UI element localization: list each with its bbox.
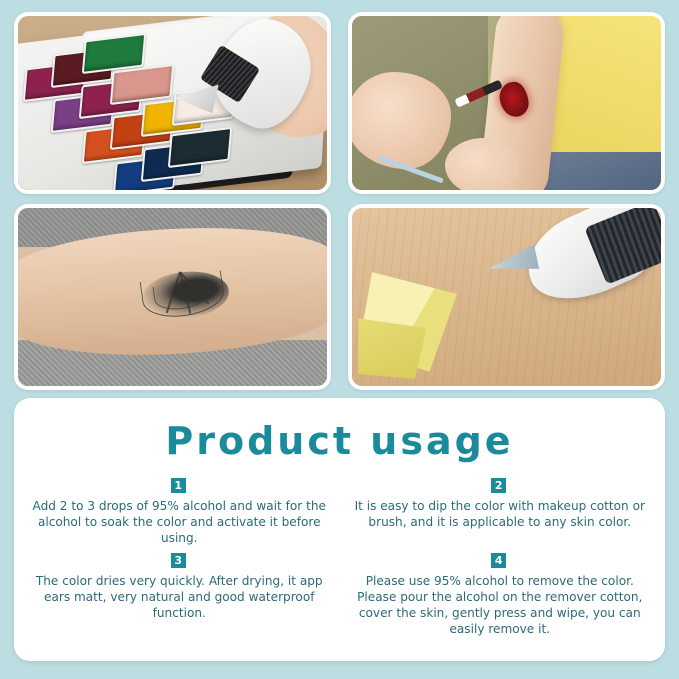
yellow-sponge-shadow-face <box>358 318 426 379</box>
step-text: Please use 95% alcohol to remove the col… <box>351 574 650 638</box>
step-number: 2 <box>491 478 506 493</box>
step-number-badge: 4 <box>491 553 508 570</box>
usage-step: 1 Add 2 to 3 drops of 95% alcohol and wa… <box>30 478 329 547</box>
photo-card-palette <box>14 12 331 194</box>
step-number: 1 <box>171 478 186 493</box>
usage-step: 2 It is easy to dip the color with makeu… <box>351 478 650 547</box>
step-number-badge: 3 <box>171 553 188 570</box>
usage-steps: 1 Add 2 to 3 drops of 95% alcohol and wa… <box>30 478 649 638</box>
usage-step: 3 The color dries very quickly. After dr… <box>30 553 329 638</box>
photo-grid <box>14 12 665 390</box>
fx-makeup-on-arm-photo <box>352 16 661 190</box>
step-number-badge: 1 <box>171 478 188 495</box>
usage-step: 4 Please use 95% alcohol to remove the c… <box>351 553 650 638</box>
tattoo-on-leg-photo <box>18 208 327 386</box>
jeans <box>537 152 661 190</box>
hand <box>352 72 451 169</box>
watercolor-palette-with-dropper-photo <box>18 16 327 190</box>
step-number: 4 <box>491 553 506 568</box>
supporting-hand <box>445 138 519 190</box>
step-number-badge: 2 <box>491 478 508 495</box>
product-listing-image: Product usage 1 Add 2 to 3 drops of 95% … <box>0 0 679 679</box>
photo-card-tattoo <box>14 204 331 390</box>
step-text: The color dries very quickly. After dryi… <box>30 574 329 622</box>
photo-card-sponge-bottle <box>348 204 665 390</box>
sponge-and-bottle-on-table-photo <box>352 208 661 386</box>
step-number: 3 <box>171 553 186 568</box>
usage-title: Product usage <box>30 422 649 462</box>
product-usage-card: Product usage 1 Add 2 to 3 drops of 95% … <box>14 398 665 661</box>
photo-card-fx-makeup <box>348 12 665 194</box>
step-text: It is easy to dip the color with makeup … <box>351 499 650 531</box>
step-text: Add 2 to 3 drops of 95% alcohol and wait… <box>30 499 329 547</box>
